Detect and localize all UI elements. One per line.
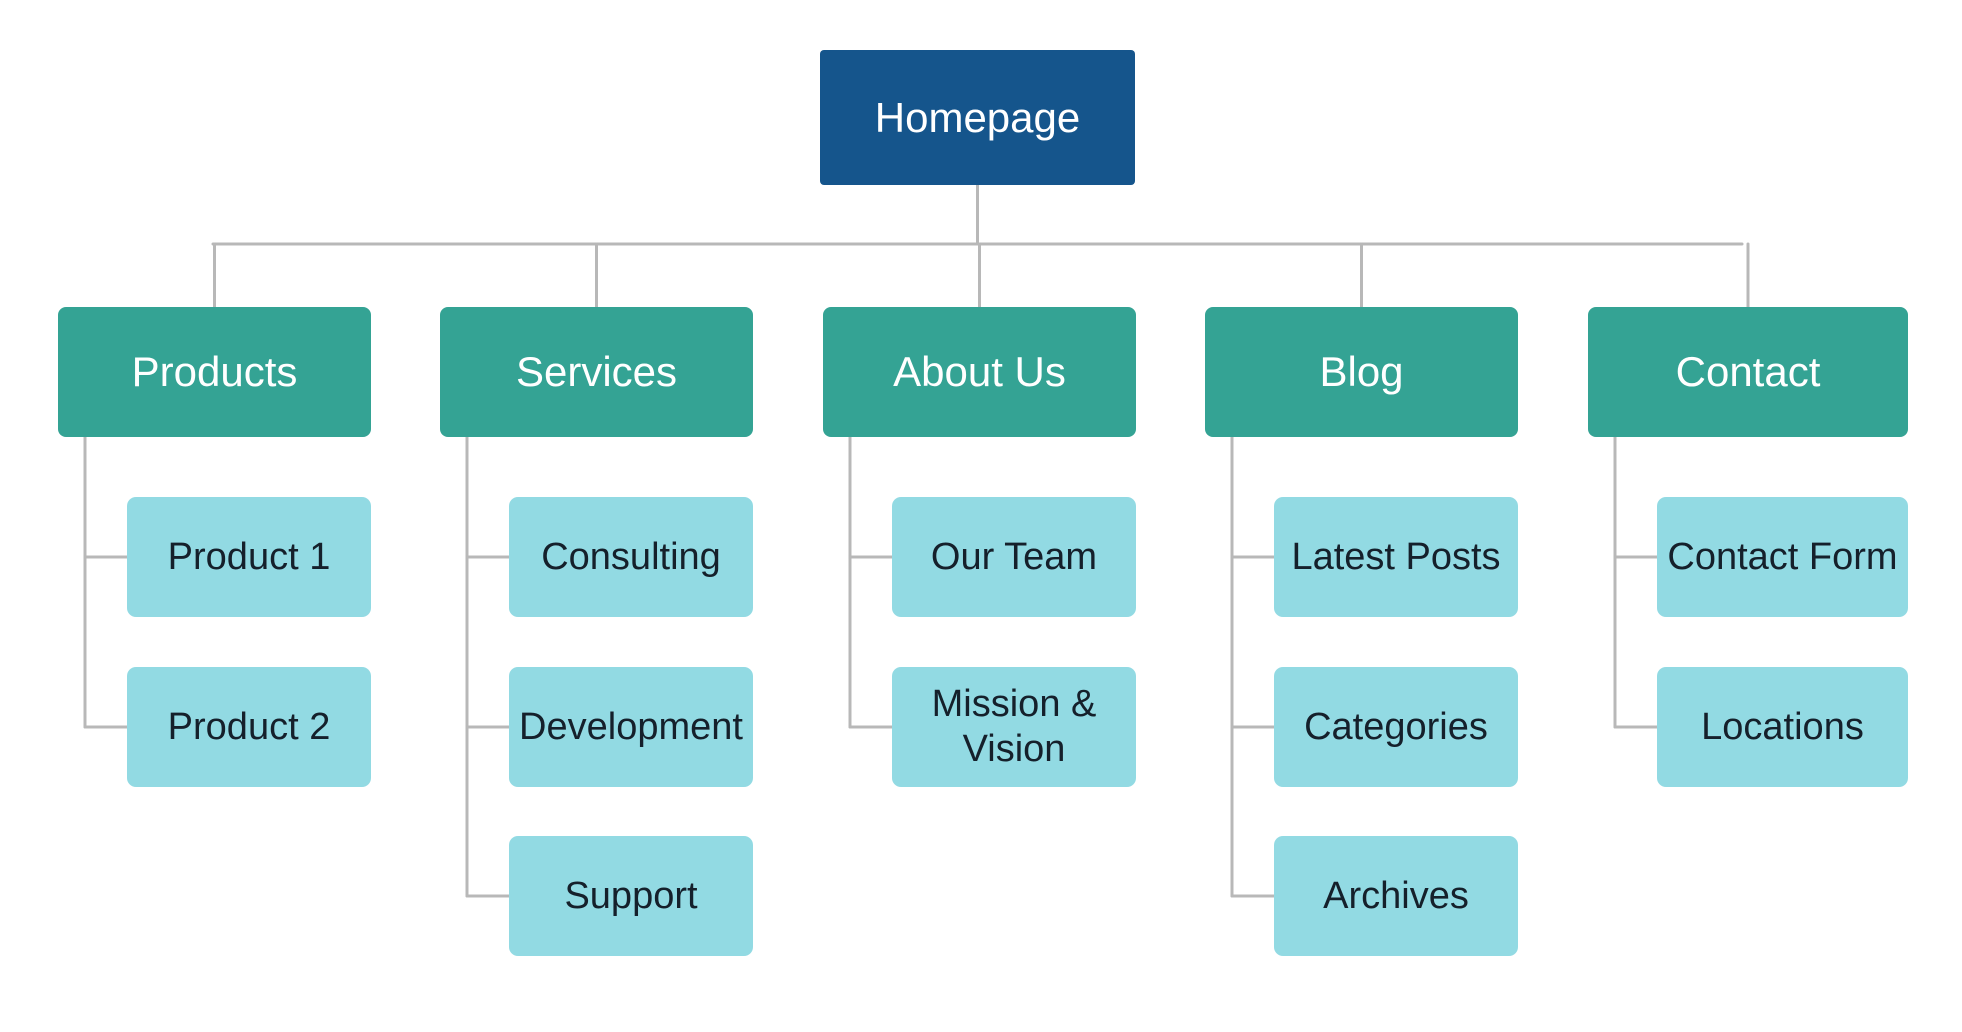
node-support[interactable]: Support (509, 836, 753, 956)
node-label: Contact (1676, 347, 1821, 397)
node-label: Mission & Vision (932, 682, 1097, 772)
node-label: Services (516, 347, 677, 397)
node-label: Contact Form (1667, 535, 1897, 580)
node-homepage[interactable]: Homepage (820, 50, 1135, 185)
node-latest-posts[interactable]: Latest Posts (1274, 497, 1518, 617)
node-label: Support (564, 874, 697, 919)
node-label: Our Team (931, 535, 1097, 580)
node-label: Latest Posts (1291, 535, 1500, 580)
node-contact[interactable]: Contact (1588, 307, 1908, 437)
sitemap-diagram: HomepageProductsProduct 1Product 2Servic… (0, 0, 1962, 1032)
node-mission-vision[interactable]: Mission & Vision (892, 667, 1136, 787)
node-consulting[interactable]: Consulting (509, 497, 753, 617)
node-blog[interactable]: Blog (1205, 307, 1518, 437)
node-product-2[interactable]: Product 2 (127, 667, 371, 787)
node-locations[interactable]: Locations (1657, 667, 1908, 787)
node-label: Archives (1323, 874, 1469, 919)
node-archives[interactable]: Archives (1274, 836, 1518, 956)
node-label: Product 1 (168, 535, 331, 580)
node-label: Product 2 (168, 705, 331, 750)
node-label: Locations (1701, 705, 1864, 750)
node-categories[interactable]: Categories (1274, 667, 1518, 787)
node-label: Development (519, 705, 743, 750)
node-about-us[interactable]: About Us (823, 307, 1136, 437)
node-development[interactable]: Development (509, 667, 753, 787)
node-label: Homepage (875, 93, 1080, 143)
node-label: Blog (1319, 347, 1403, 397)
node-label: Categories (1304, 705, 1488, 750)
node-label: Products (132, 347, 298, 397)
node-product-1[interactable]: Product 1 (127, 497, 371, 617)
node-our-team[interactable]: Our Team (892, 497, 1136, 617)
node-products[interactable]: Products (58, 307, 371, 437)
node-label: Consulting (541, 535, 721, 580)
node-services[interactable]: Services (440, 307, 753, 437)
node-contact-form[interactable]: Contact Form (1657, 497, 1908, 617)
node-label: About Us (893, 347, 1066, 397)
